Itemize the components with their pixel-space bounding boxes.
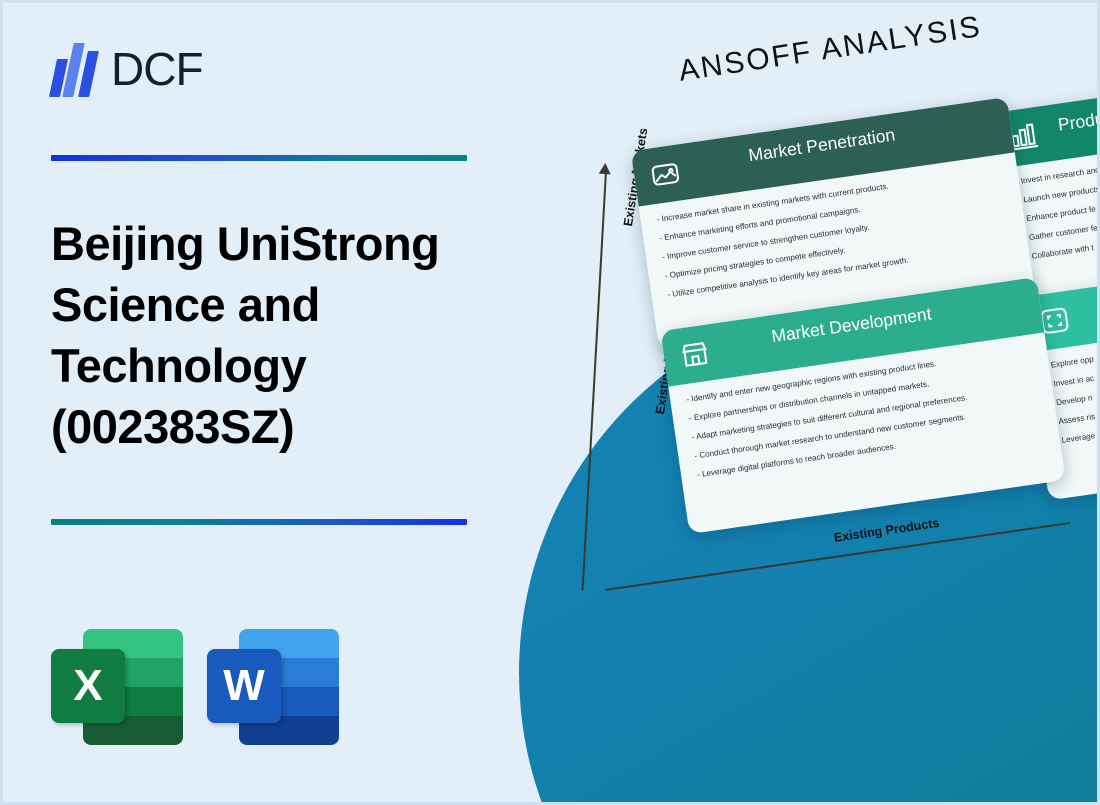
diagram-title: ANSOFF ANALYSIS bbox=[676, 10, 984, 89]
brand-name: DCF bbox=[111, 46, 203, 92]
divider-bottom bbox=[51, 519, 467, 525]
left-panel: DCF Beijing UniStrong Science and Techno… bbox=[3, 3, 563, 805]
y-axis-line bbox=[582, 171, 607, 590]
three-bars-logo-icon bbox=[51, 41, 97, 97]
divider-top bbox=[51, 155, 467, 161]
ansoff-diagram: ANSOFF ANALYSIS Existing Markets Existin… bbox=[563, 3, 1100, 805]
page-title: Beijing UniStrong Science and Technology… bbox=[51, 213, 531, 457]
excel-letter: X bbox=[51, 649, 125, 723]
brand-logo[interactable]: DCF bbox=[51, 41, 203, 97]
word-letter: W bbox=[207, 649, 281, 723]
excel-icon[interactable]: X bbox=[51, 625, 183, 749]
x-axis-label: Existing Products bbox=[833, 516, 940, 545]
slide-canvas: DCF Beijing UniStrong Science and Techno… bbox=[0, 0, 1100, 805]
word-icon[interactable]: W bbox=[207, 625, 339, 749]
file-format-icons: X W bbox=[51, 625, 339, 749]
